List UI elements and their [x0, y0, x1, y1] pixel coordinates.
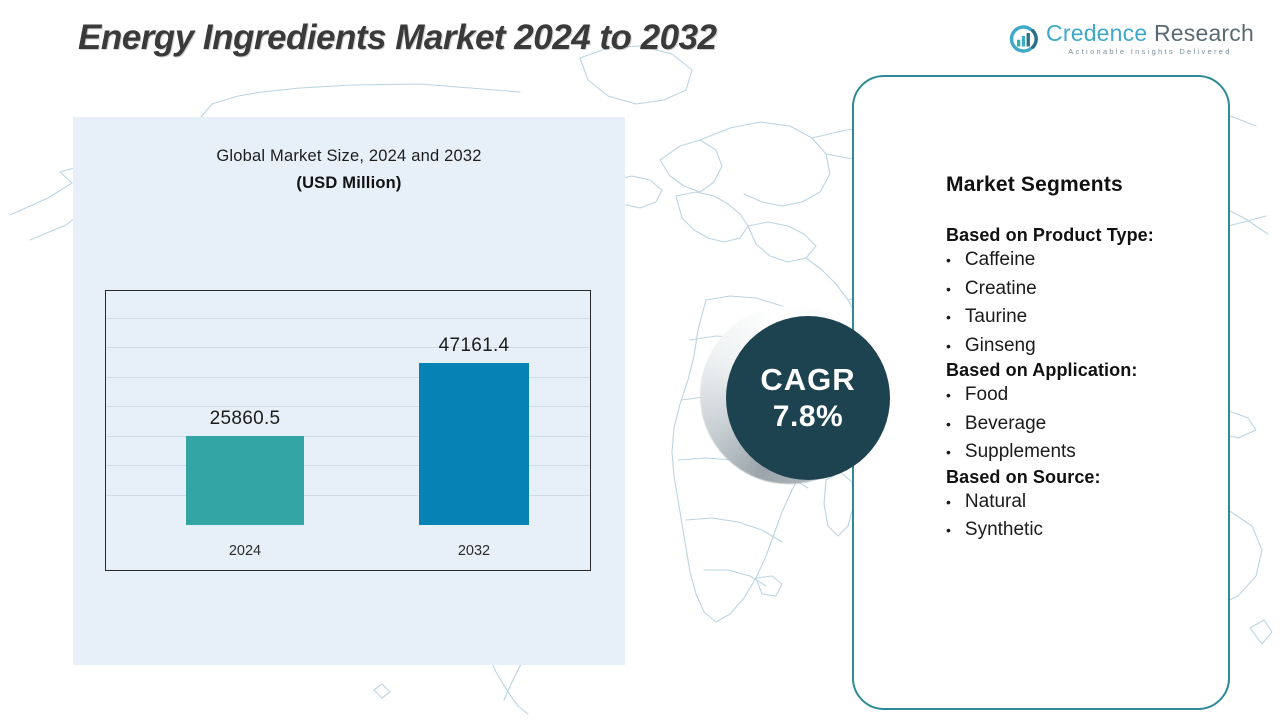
- segment-group-title: Based on Application:: [946, 360, 1228, 381]
- bullet-icon: •: [946, 495, 951, 509]
- segment-item-label: Synthetic: [965, 516, 1043, 545]
- segment-item-label: Natural: [965, 488, 1026, 517]
- cagr-circle: CAGR 7.8%: [726, 316, 890, 480]
- bullet-icon: •: [946, 388, 951, 402]
- brand-logo: Credence Research Actionable Insights De…: [1008, 22, 1254, 56]
- credence-bar-chart-circle-icon: [1008, 24, 1038, 54]
- gridline: [106, 347, 590, 348]
- gridline: [106, 318, 590, 319]
- segment-list-item: •Ginseng: [946, 332, 1228, 361]
- segment-list-item: •Beverage: [946, 410, 1228, 439]
- segment-item-label: Ginseng: [965, 332, 1036, 361]
- bar-category-2024: 2024: [229, 543, 261, 559]
- bar-chart-plot-area: 25860.5 2024 47161.4 2032: [105, 290, 591, 571]
- segment-item-label: Supplements: [965, 438, 1076, 467]
- bar-value-2024: 25860.5: [210, 408, 281, 430]
- brand-name: Credence Research: [1046, 22, 1254, 45]
- cagr-label: CAGR: [760, 362, 855, 398]
- segment-item-label: Caffeine: [965, 246, 1035, 275]
- segment-list-item: •Synthetic: [946, 516, 1228, 545]
- bar-category-2032: 2032: [458, 543, 490, 559]
- bar-2032[interactable]: [419, 363, 529, 525]
- bullet-icon: •: [946, 282, 951, 296]
- market-segments-panel: Market Segments Based on Product Type:•C…: [852, 75, 1230, 710]
- segment-list-item: •Supplements: [946, 438, 1228, 467]
- brand-name-primary: Credence: [1046, 20, 1147, 46]
- segment-group-title: Based on Product Type:: [946, 225, 1228, 246]
- brand-tagline: Actionable Insights Delivered: [1046, 48, 1254, 56]
- bar-column-2032[interactable]: 47161.4 2032: [419, 363, 529, 525]
- segment-item-label: Beverage: [965, 410, 1046, 439]
- brand-name-secondary: Research: [1147, 20, 1254, 46]
- bar-column-2024[interactable]: 25860.5 2024: [186, 436, 304, 525]
- segment-list-item: •Natural: [946, 488, 1228, 517]
- segment-list-item: •Creatine: [946, 275, 1228, 304]
- cagr-value: 7.8%: [773, 400, 843, 434]
- bullet-icon: •: [946, 445, 951, 459]
- bullet-icon: •: [946, 310, 951, 324]
- bar-2024[interactable]: [186, 436, 304, 525]
- market-segments-groups: Based on Product Type:•Caffeine•Creatine…: [946, 225, 1228, 545]
- bar-value-2032: 47161.4: [439, 335, 510, 357]
- segment-item-label: Creatine: [965, 275, 1037, 304]
- chart-title: Global Market Size, 2024 and 2032: [73, 147, 625, 166]
- segment-list-item: •Caffeine: [946, 246, 1228, 275]
- segment-group-title: Based on Source:: [946, 467, 1228, 488]
- segment-item-label: Taurine: [965, 303, 1027, 332]
- cagr-badge: CAGR 7.8%: [700, 306, 892, 498]
- segment-list-item: •Food: [946, 381, 1228, 410]
- market-segments-title: Market Segments: [946, 173, 1228, 197]
- bullet-icon: •: [946, 339, 951, 353]
- chart-subtitle: (USD Million): [73, 174, 625, 193]
- bullet-icon: •: [946, 417, 951, 431]
- bullet-icon: •: [946, 523, 951, 537]
- segment-list-item: •Taurine: [946, 303, 1228, 332]
- page-title: Energy Ingredients Market 2024 to 2032: [78, 18, 717, 58]
- bullet-icon: •: [946, 253, 951, 267]
- segment-item-label: Food: [965, 381, 1008, 410]
